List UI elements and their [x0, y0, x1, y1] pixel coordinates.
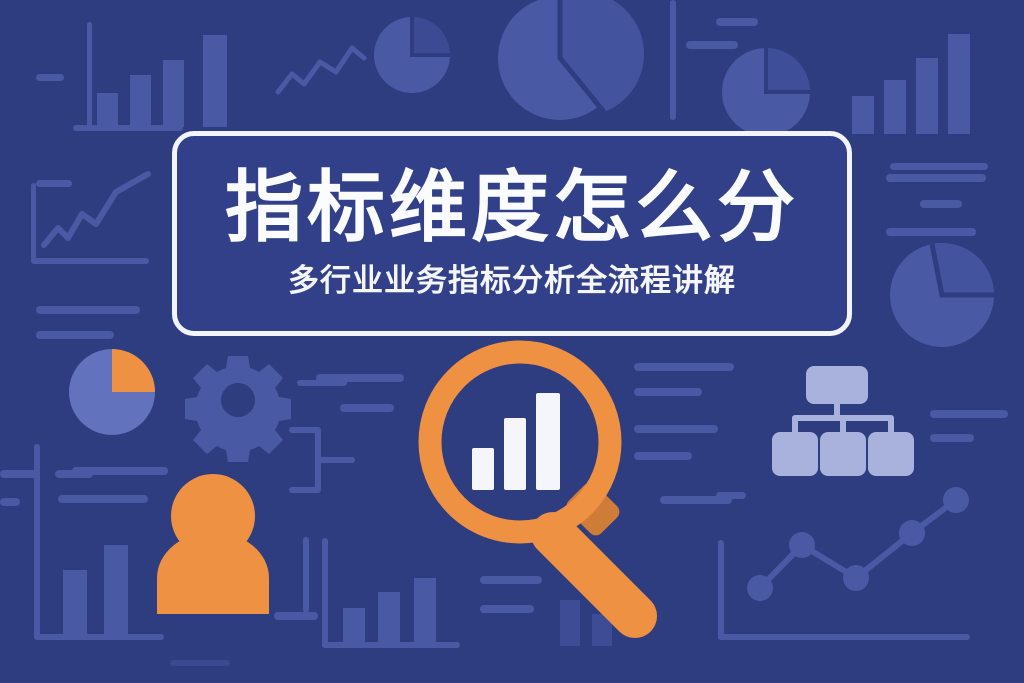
chart-bottom-left-bars [34, 444, 168, 640]
org-chart-icon [772, 366, 914, 476]
chart-top-small-pie [374, 17, 450, 93]
chart-top-left-bars [73, 22, 227, 131]
chart-right-pie [890, 243, 994, 347]
chart-mid-left-line [31, 174, 149, 264]
chart-top-right-pie [722, 48, 810, 136]
gear-icon [185, 356, 291, 462]
chart-top-large-pie [498, 0, 644, 120]
background-decoration-layer: .d { fill: #4a59a4; } .dl { fill: #55639… [0, 0, 1024, 683]
decor-rules-right [886, 174, 986, 236]
decor-textlines-center-left [316, 374, 404, 412]
chart-bottom-center-bars [322, 538, 542, 648]
chart-top-left-line [278, 48, 364, 92]
decor-textlines-mid-left [36, 306, 140, 339]
page-subtitle: 多行业业务指标分析全流程讲解 [288, 255, 736, 300]
decor-textlines-center-right [634, 363, 734, 504]
decor-dash-top-left [36, 74, 72, 187]
person-icon [157, 474, 269, 614]
decor-textlines-right-mid [930, 410, 1008, 442]
title-card: 指标维度怎么分 多行业业务指标分析全流程讲解 [172, 131, 852, 336]
decor-connector-mid [292, 383, 352, 490]
page-title: 指标维度怎么分 [225, 167, 799, 249]
magnifier-icon [430, 352, 666, 647]
decor-connector-bottom [274, 540, 318, 620]
magnifier-bars [472, 393, 560, 490]
poster-canvas: .d { fill: #4a59a4; } .dl { fill: #55639… [0, 0, 1024, 683]
chart-bottom-right-line [716, 487, 970, 640]
chart-mid-left-orange-pie [69, 349, 155, 435]
chart-top-right-bars [852, 34, 988, 170]
